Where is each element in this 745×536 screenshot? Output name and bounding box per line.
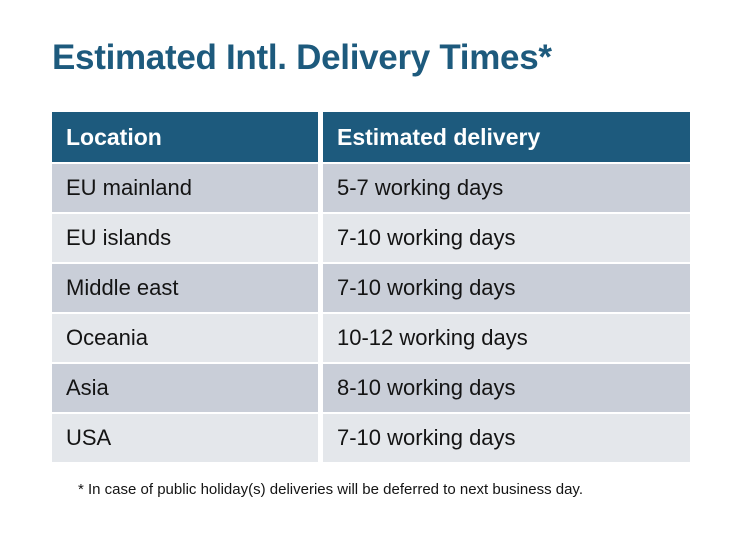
- cell-estimated-delivery: 8-10 working days: [323, 364, 690, 412]
- cell-estimated-delivery: 10-12 working days: [323, 314, 690, 362]
- table-row: Oceania 10-12 working days: [52, 314, 690, 362]
- cell-estimated-delivery: 5-7 working days: [323, 164, 690, 212]
- delivery-times-table: Location Estimated delivery EU mainland …: [52, 112, 690, 462]
- cell-location: Oceania: [52, 314, 318, 362]
- cell-estimated-delivery: 7-10 working days: [323, 264, 690, 312]
- cell-estimated-delivery: 7-10 working days: [323, 414, 690, 462]
- table-header-row: Location Estimated delivery: [52, 112, 690, 162]
- table-row: Asia 8-10 working days: [52, 364, 690, 412]
- table-row: EU mainland 5-7 working days: [52, 164, 690, 212]
- cell-location: Middle east: [52, 264, 318, 312]
- table-row: Middle east 7-10 working days: [52, 264, 690, 312]
- page-title: Estimated Intl. Delivery Times*: [52, 38, 552, 78]
- cell-location: USA: [52, 414, 318, 462]
- table-row: USA 7-10 working days: [52, 414, 690, 462]
- column-header-location: Location: [52, 112, 318, 162]
- cell-estimated-delivery: 7-10 working days: [323, 214, 690, 262]
- cell-location: Asia: [52, 364, 318, 412]
- table-row: EU islands 7-10 working days: [52, 214, 690, 262]
- delivery-times-page: Estimated Intl. Delivery Times* Location…: [0, 0, 745, 536]
- column-header-estimated-delivery: Estimated delivery: [323, 112, 690, 162]
- cell-location: EU mainland: [52, 164, 318, 212]
- footnote: * In case of public holiday(s) deliverie…: [78, 481, 583, 498]
- cell-location: EU islands: [52, 214, 318, 262]
